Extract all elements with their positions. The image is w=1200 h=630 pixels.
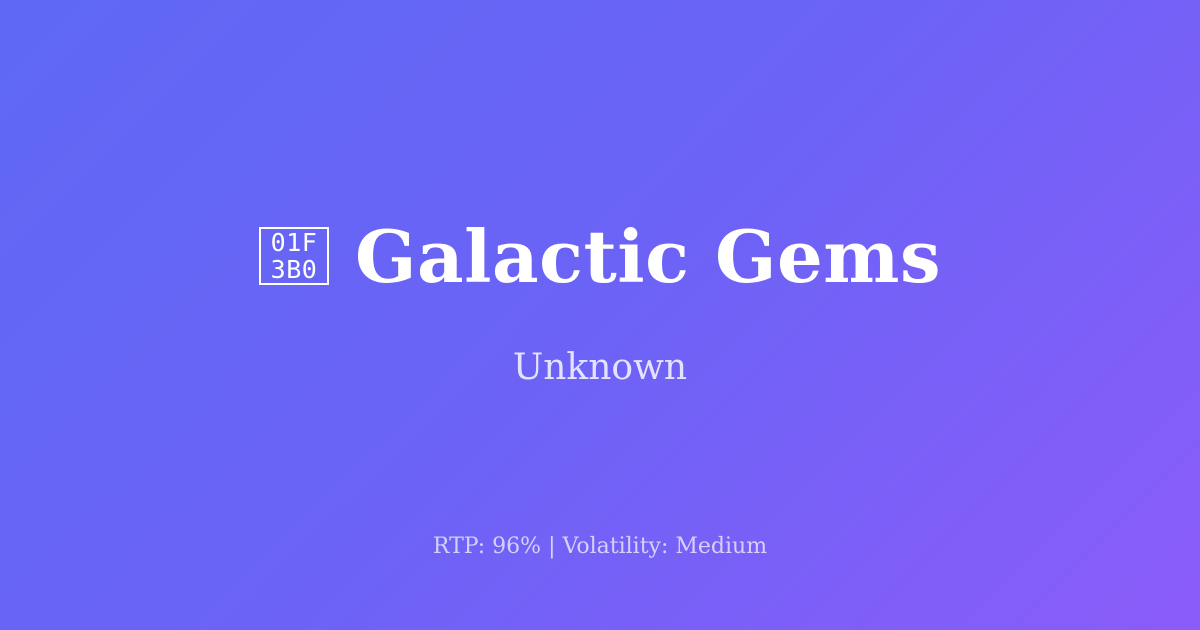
subtitle: Unknown [513, 346, 687, 389]
page-title: Galactic Gems [355, 219, 941, 295]
og-preview-card: 01F 3B0 Galactic Gems Unknown RTP: 96% |… [0, 0, 1200, 630]
tofu-codepoint-bottom: 3B0 [271, 256, 318, 283]
game-stats-footer: RTP: 96% | Volatility: Medium [0, 533, 1200, 562]
slot-machine-emoji-tofu-icon: 01F 3B0 [259, 227, 329, 285]
tofu-codepoint-top: 01F [271, 229, 318, 256]
title-row: 01F 3B0 Galactic Gems [259, 219, 941, 295]
